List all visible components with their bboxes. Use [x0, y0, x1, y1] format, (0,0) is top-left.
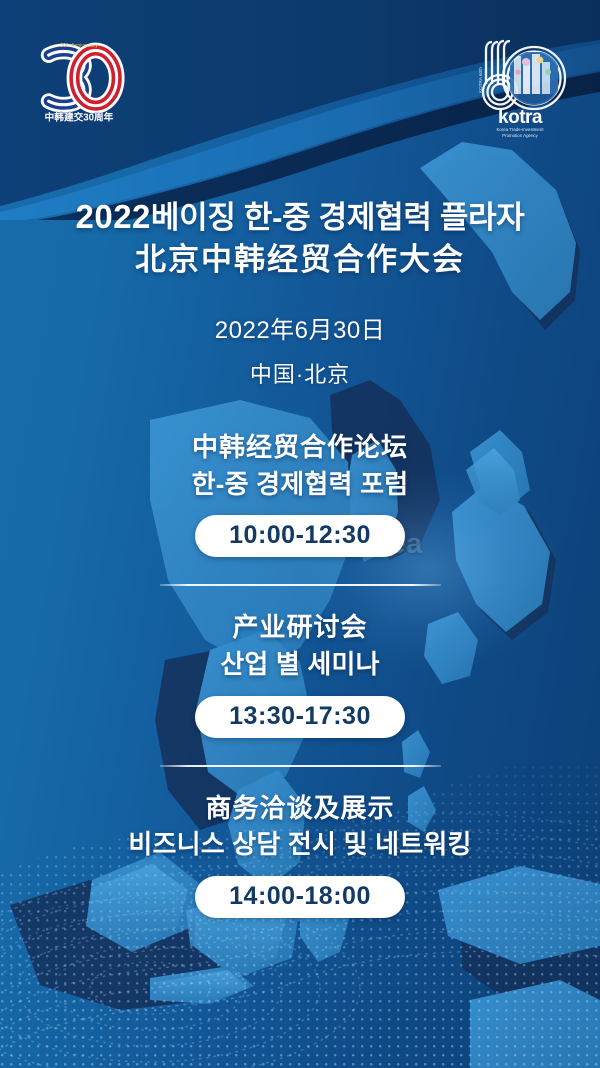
title-chinese: 北京中韩经贸合作大会	[0, 240, 600, 280]
session-item: 产业研讨会 산업 별 세미나 13:30-17:30	[0, 611, 600, 737]
session-divider	[160, 765, 441, 767]
session-time-badge: 10:00-12:30	[195, 515, 405, 557]
session-title-cn: 产业研讨会	[0, 611, 600, 644]
session-title-kr: 한-중 경제협력 포럼	[0, 468, 600, 502]
title-block: 2022베이징 한-중 경제협력 플라자 北京中韩经贸合作大会	[0, 196, 600, 280]
session-divider	[160, 584, 441, 586]
event-meta: 2022年6月30日 中国·北京	[0, 310, 600, 389]
session-title-kr: 산업 별 세미나	[0, 648, 600, 682]
title-korean: 베이징 한-중 경제협력 플라자	[151, 200, 525, 235]
session-time-badge: 14:00-18:00	[195, 876, 405, 918]
title-korean-line: 2022베이징 한-중 경제협력 플라자	[0, 196, 600, 238]
session-time-badge: 13:30-17:30	[195, 696, 405, 738]
event-poster: Korea	[0, 0, 600, 1068]
poster-content: 2022베이징 한-중 경제협력 플라자 北京中韩经贸合作大会 2022年6月3…	[0, 0, 600, 918]
session-title-kr: 비즈니스 상담 전시 및 네트워킹	[0, 828, 600, 862]
session-item: 商务洽谈及展示 비즈니스 상담 전시 및 네트워킹 14:00-18:00	[0, 792, 600, 918]
title-year: 2022	[75, 198, 150, 235]
session-title-cn: 中韩经贸合作论坛	[0, 431, 600, 464]
event-date: 2022年6月30日	[0, 310, 600, 345]
session-title-cn: 商务洽谈及展示	[0, 792, 600, 825]
session-list: 中韩经贸合作论坛 한-중 경제협력 포럼 10:00-12:30 产业研讨会 산…	[0, 431, 600, 918]
event-location: 中国·北京	[0, 357, 600, 389]
session-item: 中韩经贸合作论坛 한-중 경제협력 포럼 10:00-12:30	[0, 431, 600, 557]
